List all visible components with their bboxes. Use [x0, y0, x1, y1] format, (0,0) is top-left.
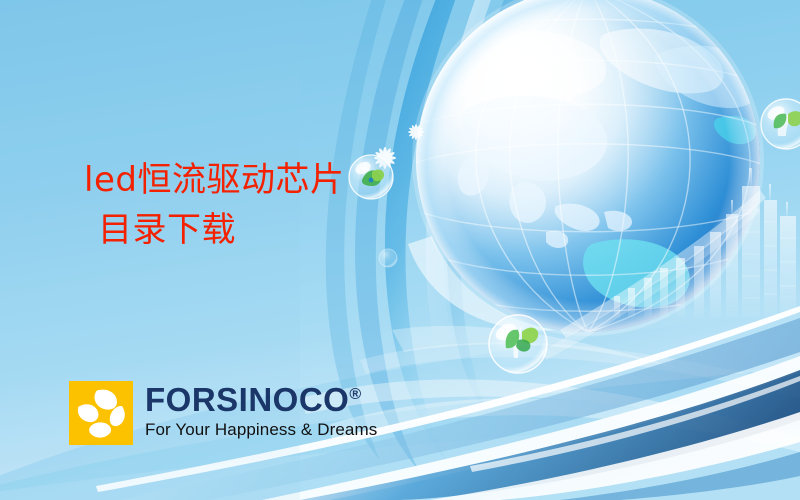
- bubble: [489, 315, 547, 373]
- brand-name: FORSINOCO®: [145, 383, 377, 416]
- forsinoco-pinwheel-icon: [69, 381, 133, 445]
- logo-lockup: FORSINOCO® For Your Happiness & Dreams: [69, 381, 377, 445]
- headline: led恒流驱动芯片 目录下载: [84, 158, 414, 252]
- headline-line-2: 目录下载: [84, 208, 414, 252]
- bubble: [761, 99, 800, 149]
- brand-tagline: For Your Happiness & Dreams: [145, 421, 377, 438]
- logo-wordmark: FORSINOCO® For Your Happiness & Dreams: [145, 381, 377, 438]
- promo-banner: led恒流驱动芯片 目录下载 FORSINOCO®: [0, 0, 800, 500]
- brand-name-text: FORSINOCO: [145, 381, 349, 418]
- headline-line-1: led恒流驱动芯片: [84, 158, 414, 202]
- registered-trademark-icon: ®: [349, 386, 361, 403]
